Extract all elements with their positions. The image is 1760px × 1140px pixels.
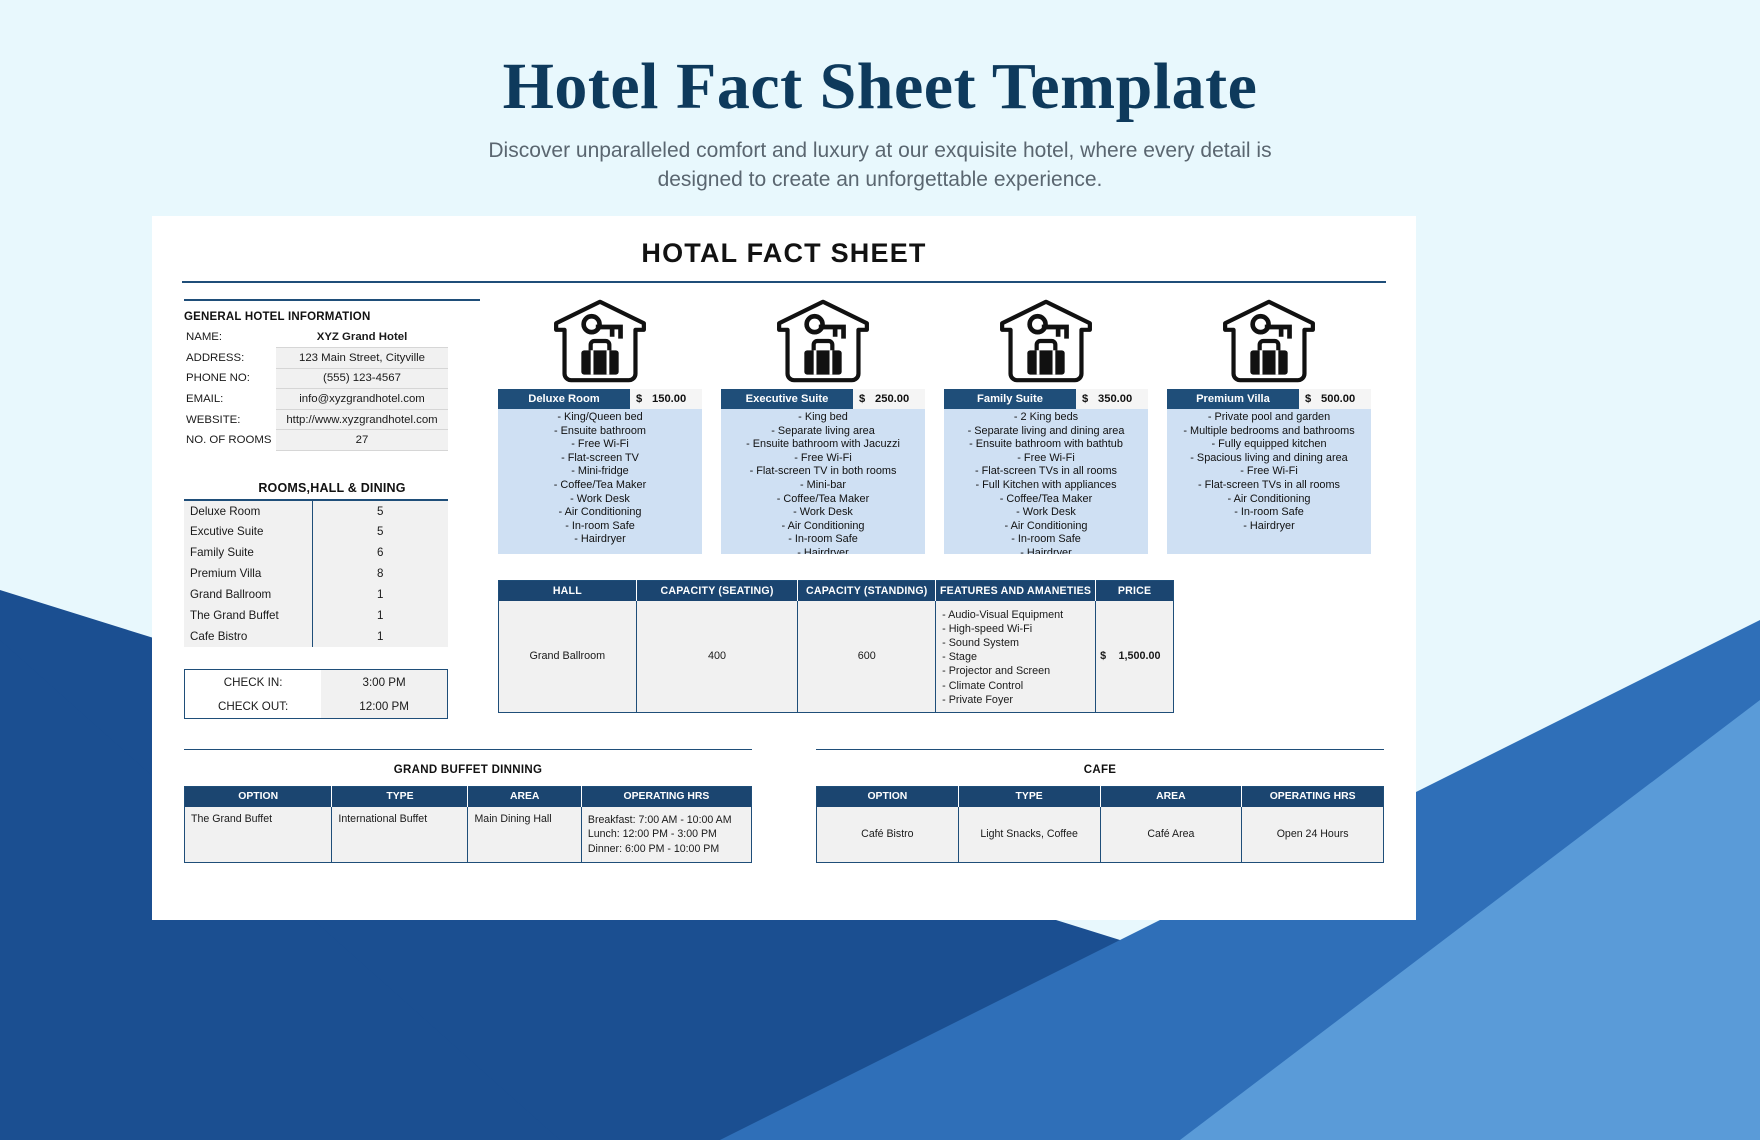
hall-feature: - Climate Control: [942, 679, 1089, 693]
right-column: Deluxe Room $ 150.00 - King/Queen bed- E…: [480, 299, 1386, 719]
column-header: HALL: [499, 581, 637, 601]
cafe-heading: CAFE: [816, 764, 1384, 786]
room-feature: - Full Kitchen with appliances: [948, 479, 1144, 493]
buffet-option-cell: The Grand Buffet: [185, 807, 332, 863]
room-feature: - Spacious living and dining area: [1171, 452, 1367, 466]
room-feature: - Multiple bedrooms and bathrooms: [1171, 425, 1367, 439]
room-type-label: Cafe Bistro: [184, 626, 312, 647]
list-item: Cafe Bistro1: [184, 626, 448, 647]
room-type-count: 6: [312, 542, 448, 563]
room-feature: - King/Queen bed: [502, 411, 698, 425]
room-card-features: - Private pool and garden- Multiple bedr…: [1167, 409, 1371, 554]
buffet-type-cell: International Buffet: [332, 807, 468, 863]
room-feature: - Coffee/Tea Maker: [502, 479, 698, 493]
page-title: Hotel Fact Sheet Template: [0, 52, 1760, 121]
room-feature: - Flat-screen TVs in all rooms: [948, 465, 1144, 479]
column-header: CAPACITY (STANDING): [798, 581, 936, 601]
price-amount: 500.00: [1311, 393, 1365, 405]
table-row: The Grand Buffet International Buffet Ma…: [185, 807, 752, 863]
column-header: TYPE: [332, 787, 468, 807]
buffet-hours-cell: Breakfast: 7:00 AM - 10:00 AM Lunch: 12:…: [581, 807, 751, 863]
room-type-label: Grand Ballroom: [184, 584, 312, 605]
room-card-features: - King bed- Separate living area- Ensuit…: [721, 409, 925, 554]
dining-section: GRAND BUFFET DINNING OPTIONTYPEAREAOPERA…: [182, 719, 1386, 863]
list-item: Premium Villa8: [184, 563, 448, 584]
room-feature: - Mini-fridge: [502, 465, 698, 479]
hall-feature: - Projector and Screen: [942, 664, 1089, 678]
room-type-label: Deluxe Room: [184, 500, 312, 521]
info-label: ADDRESS:: [184, 348, 276, 369]
room-cards-row: Deluxe Room $ 150.00 - King/Queen bed- E…: [498, 299, 1386, 554]
hall-feature: - Sound System: [942, 636, 1089, 650]
room-card-header: Premium Villa $ 500.00: [1167, 389, 1371, 409]
info-value: XYZ Grand Hotel: [276, 327, 448, 348]
room-feature: - In-room Safe: [502, 520, 698, 534]
room-card-header: Executive Suite $ 250.00: [721, 389, 925, 409]
room-type-label: Family Suite: [184, 542, 312, 563]
table-row: Café Bistro Light Snacks, Coffee Café Ar…: [817, 807, 1384, 863]
checkin-checkout-box: CHECK IN:3:00 PMCHECK OUT:12:00 PM: [184, 669, 448, 719]
buffet-heading: GRAND BUFFET DINNING: [184, 764, 752, 786]
room-card-title: Executive Suite: [721, 389, 853, 409]
info-row: NAME:XYZ Grand Hotel: [184, 327, 448, 348]
room-card: Deluxe Room $ 150.00 - King/Queen bed- E…: [498, 299, 702, 554]
room-feature: - Air Conditioning: [1171, 493, 1367, 507]
room-type-count: 5: [312, 500, 448, 521]
room-feature: - In-room Safe: [725, 533, 921, 547]
info-value: 123 Main Street, Cityville: [276, 348, 448, 369]
column-header: FEATURES AND AMANETIES: [936, 581, 1096, 601]
room-type-count: 1: [312, 584, 448, 605]
general-info-heading: GENERAL HOTEL INFORMATION: [184, 311, 480, 327]
column-header: OPERATING HRS: [1242, 787, 1384, 807]
room-feature: - Hairdryer: [948, 547, 1144, 554]
room-type-label: Premium Villa: [184, 563, 312, 584]
checkin-row: CHECK IN:3:00 PM: [185, 670, 447, 694]
room-card-title: Deluxe Room: [498, 389, 630, 409]
buffet-divider: [184, 749, 752, 750]
info-label: NO. OF ROOMS: [184, 430, 276, 451]
checkin-checkout-table: CHECK IN:3:00 PMCHECK OUT:12:00 PM: [185, 670, 447, 718]
hall-price-cell: $ 1,500.00: [1096, 601, 1174, 713]
info-row: WEBSITE:http://www.xyzgrandhotel.com: [184, 409, 448, 430]
hall-features-cell: - Audio-Visual Equipment- High-speed Wi-…: [936, 601, 1096, 713]
room-type-count: 5: [312, 521, 448, 542]
room-feature: - Work Desk: [502, 493, 698, 507]
page-subtitle: Discover unparalleled comfort and luxury…: [460, 137, 1300, 195]
info-value: http://www.xyzgrandhotel.com: [276, 409, 448, 430]
checkin-label: CHECK IN:: [185, 670, 321, 694]
info-value: (555) 123-4567: [276, 368, 448, 389]
hall-feature: - High-speed Wi-Fi: [942, 622, 1089, 636]
price-amount: 150.00: [642, 393, 696, 405]
general-info-table: NAME:XYZ Grand HotelADDRESS:123 Main Str…: [184, 327, 448, 451]
info-row: NO. OF ROOMS27: [184, 430, 448, 451]
room-card-price: $ 350.00: [1076, 389, 1148, 409]
room-feature: - Free Wi-Fi: [725, 452, 921, 466]
cafe-divider: [816, 749, 1384, 750]
hall-seating-cell: 400: [636, 601, 798, 713]
room-feature: - Hairdryer: [725, 547, 921, 554]
hotel-key-luggage-icon: [553, 299, 647, 383]
buffet-area-cell: Main Dining Hall: [468, 807, 581, 863]
room-feature: - Private pool and garden: [1171, 411, 1367, 425]
room-type-count: 1: [312, 605, 448, 626]
cafe-table: OPTIONTYPEAREAOPERATING HRS Café Bistro …: [816, 786, 1384, 863]
sheet-title: HOTAL FACT SHEET: [182, 238, 1386, 281]
room-feature: - Coffee/Tea Maker: [725, 493, 921, 507]
info-label: PHONE NO:: [184, 368, 276, 389]
cafe-type-cell: Light Snacks, Coffee: [958, 807, 1100, 863]
room-card-features: - King/Queen bed- Ensuite bathroom- Free…: [498, 409, 702, 554]
room-feature: - 2 King beds: [948, 411, 1144, 425]
checkin-label: CHECK OUT:: [185, 694, 321, 718]
info-label: NAME:: [184, 327, 276, 348]
list-item: Excutive Suite5: [184, 521, 448, 542]
room-feature: - Flat-screen TV in both rooms: [725, 465, 921, 479]
info-row: PHONE NO:(555) 123-4567: [184, 368, 448, 389]
buffet-block: GRAND BUFFET DINNING OPTIONTYPEAREAOPERA…: [184, 749, 752, 863]
list-item: Grand Ballroom1: [184, 584, 448, 605]
room-card-features: - 2 King beds- Separate living and dinin…: [944, 409, 1148, 554]
price-amount: 250.00: [865, 393, 919, 405]
room-feature: - Flat-screen TVs in all rooms: [1171, 479, 1367, 493]
left-column: GENERAL HOTEL INFORMATION NAME:XYZ Grand…: [182, 299, 480, 719]
checkin-value: 3:00 PM: [321, 670, 447, 694]
room-feature: - Fully equipped kitchen: [1171, 438, 1367, 452]
room-feature: - Separate living and dining area: [948, 425, 1144, 439]
room-type-count: 8: [312, 563, 448, 584]
general-info-topline: [184, 299, 480, 301]
info-value: info@xyzgrandhotel.com: [276, 389, 448, 410]
room-feature: - In-room Safe: [948, 533, 1144, 547]
info-row: ADDRESS:123 Main Street, Cityville: [184, 348, 448, 369]
room-feature: - Hairdryer: [1171, 520, 1367, 534]
info-row: EMAIL:info@xyzgrandhotel.com: [184, 389, 448, 410]
hall-name-cell: Grand Ballroom: [499, 601, 637, 713]
room-card-price: $ 150.00: [630, 389, 702, 409]
room-feature: - Work Desk: [948, 506, 1144, 520]
table-row: Grand Ballroom 400 600 - Audio-Visual Eq…: [499, 601, 1174, 713]
price-amount: 350.00: [1088, 393, 1142, 405]
column-header: AREA: [1100, 787, 1242, 807]
room-feature: - Ensuite bathroom: [502, 425, 698, 439]
hall-feature: - Stage: [942, 650, 1089, 664]
info-label: WEBSITE:: [184, 409, 276, 430]
room-feature: - Hairdryer: [502, 533, 698, 547]
info-value: 27: [276, 430, 448, 451]
room-feature: - Free Wi-Fi: [1171, 465, 1367, 479]
room-feature: - Air Conditioning: [725, 520, 921, 534]
room-feature: - Ensuite bathroom with Jacuzzi: [725, 438, 921, 452]
room-feature: - King bed: [725, 411, 921, 425]
room-card-title: Family Suite: [944, 389, 1076, 409]
rooms-hall-dining-table: Deluxe Room5Excutive Suite5Family Suite6…: [184, 499, 448, 647]
room-feature: - Flat-screen TV: [502, 452, 698, 466]
hotel-key-luggage-icon: [999, 299, 1093, 383]
room-feature: - Free Wi-Fi: [948, 452, 1144, 466]
room-card: Executive Suite $ 250.00 - King bed- Sep…: [721, 299, 925, 554]
room-feature: - Air Conditioning: [502, 506, 698, 520]
page-header: Hotel Fact Sheet Template Discover unpar…: [0, 0, 1760, 195]
column-header: CAPACITY (SEATING): [636, 581, 798, 601]
hall-feature: - Private Foyer: [942, 693, 1089, 707]
hall-standing-cell: 600: [798, 601, 936, 713]
cafe-option-cell: Café Bistro: [817, 807, 959, 863]
hall-price-amount: 1,500.00: [1119, 650, 1161, 662]
room-card-price: $ 250.00: [853, 389, 925, 409]
room-feature: - Mini-bar: [725, 479, 921, 493]
info-label: EMAIL:: [184, 389, 276, 410]
column-header: PRICE: [1096, 581, 1174, 601]
hall-capacity-table: HALLCAPACITY (SEATING)CAPACITY (STANDING…: [498, 580, 1174, 713]
hotel-key-luggage-icon: [776, 299, 870, 383]
room-feature: - Ensuite bathroom with bathtub: [948, 438, 1144, 452]
room-type-count: 1: [312, 626, 448, 647]
room-type-label: The Grand Buffet: [184, 605, 312, 626]
room-card: Family Suite $ 350.00 - 2 King beds- Sep…: [944, 299, 1148, 554]
rooms-hall-dining-section: ROOMS,HALL & DINING Deluxe Room5Excutive…: [184, 481, 480, 647]
room-feature: - Separate living area: [725, 425, 921, 439]
room-feature: - Coffee/Tea Maker: [948, 493, 1144, 507]
rooms-hall-dining-heading: ROOMS,HALL & DINING: [184, 481, 480, 499]
cafe-area-cell: Café Area: [1100, 807, 1242, 863]
hall-price-currency: $: [1096, 650, 1106, 662]
room-card-header: Family Suite $ 350.00: [944, 389, 1148, 409]
room-type-label: Excutive Suite: [184, 521, 312, 542]
hall-feature: - Audio-Visual Equipment: [942, 608, 1089, 622]
list-item: Deluxe Room5: [184, 500, 448, 521]
room-card-price: $ 500.00: [1299, 389, 1371, 409]
checkin-row: CHECK OUT:12:00 PM: [185, 694, 447, 718]
list-item: The Grand Buffet1: [184, 605, 448, 626]
room-feature: - Work Desk: [725, 506, 921, 520]
buffet-table: OPTIONTYPEAREAOPERATING HRS The Grand Bu…: [184, 786, 752, 863]
cafe-block: CAFE OPTIONTYPEAREAOPERATING HRS Café Bi…: [816, 749, 1384, 863]
room-feature: - Air Conditioning: [948, 520, 1144, 534]
room-card-header: Deluxe Room $ 150.00: [498, 389, 702, 409]
list-item: Family Suite6: [184, 542, 448, 563]
column-header: AREA: [468, 787, 581, 807]
room-card-title: Premium Villa: [1167, 389, 1299, 409]
column-header: OPTION: [185, 787, 332, 807]
room-feature: - Free Wi-Fi: [502, 438, 698, 452]
hotel-key-luggage-icon: [1222, 299, 1316, 383]
fact-sheet-document: HOTAL FACT SHEET GENERAL HOTEL INFORMATI…: [152, 216, 1416, 920]
room-feature: - In-room Safe: [1171, 506, 1367, 520]
column-header: TYPE: [958, 787, 1100, 807]
cafe-hours-cell: Open 24 Hours: [1242, 807, 1384, 863]
column-header: OPERATING HRS: [581, 787, 751, 807]
room-card: Premium Villa $ 500.00 - Private pool an…: [1167, 299, 1371, 554]
column-header: OPTION: [817, 787, 959, 807]
checkin-value: 12:00 PM: [321, 694, 447, 718]
